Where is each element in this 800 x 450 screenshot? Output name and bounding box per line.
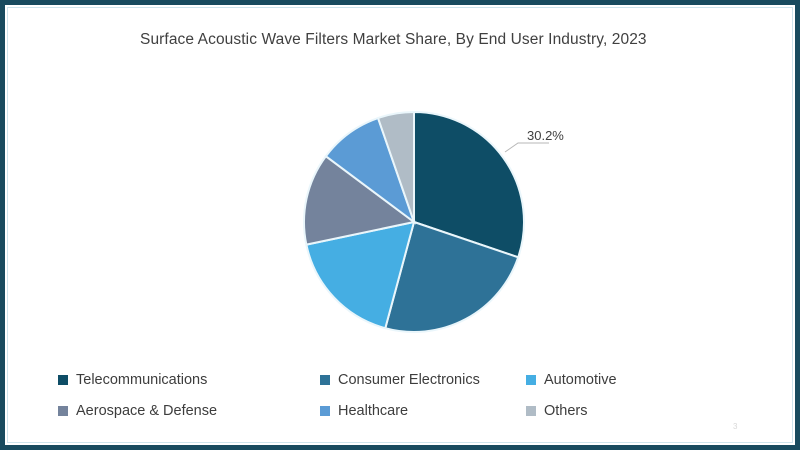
legend-swatch-icon [58, 406, 68, 416]
legend-item-telecommunications[interactable]: Telecommunications [58, 364, 320, 395]
legend-item-label: Aerospace & Defense [76, 403, 217, 419]
legend-item-label: Automotive [544, 372, 617, 388]
legend-swatch-icon [526, 406, 536, 416]
legend-swatch-icon [320, 375, 330, 385]
legend-item-label: Healthcare [338, 403, 408, 419]
legend-item-consumer-electronics[interactable]: Consumer Electronics [320, 364, 526, 395]
callout-leader-line [505, 143, 549, 152]
legend-swatch-icon [58, 375, 68, 385]
legend-item-label: Consumer Electronics [338, 372, 480, 388]
legend-item-healthcare[interactable]: Healthcare [320, 395, 526, 426]
page-number: 3 [733, 422, 737, 431]
legend-row: Aerospace & Defense Healthcare Others [58, 395, 748, 426]
pie-chart [0, 0, 800, 360]
pie-slice-group [304, 112, 524, 332]
legend-item-label: Others [544, 403, 588, 419]
legend-row: Telecommunications Consumer Electronics … [58, 364, 748, 395]
legend-item-automotive[interactable]: Automotive [526, 364, 726, 395]
legend-item-aerospace-and-defense[interactable]: Aerospace & Defense [58, 395, 320, 426]
legend-item-others[interactable]: Others [526, 395, 726, 426]
slide-canvas: Surface Acoustic Wave Filters Market Sha… [0, 0, 800, 450]
slice-value-label-telecommunications: 30.2% [527, 128, 564, 143]
legend-swatch-icon [526, 375, 536, 385]
legend-swatch-icon [320, 406, 330, 416]
chart-legend: Telecommunications Consumer Electronics … [58, 364, 748, 426]
legend-item-label: Telecommunications [76, 372, 207, 388]
